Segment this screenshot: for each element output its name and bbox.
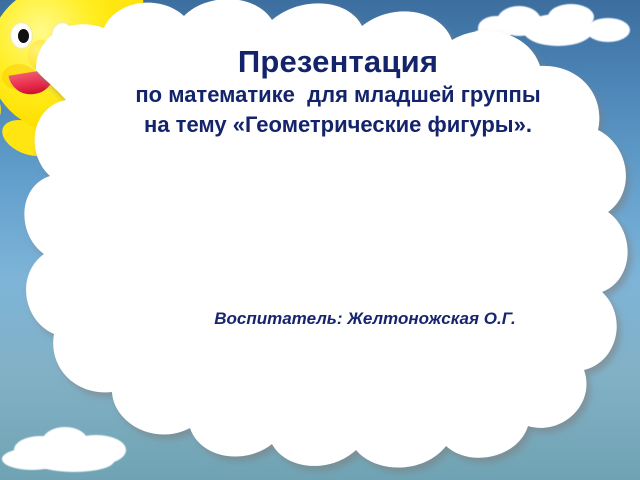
subtitle-line-2: на тему «Геометрические фигуры». (128, 112, 548, 138)
author-name: Воспитатель: Желтоножская О.Г. (150, 309, 580, 329)
author-block: Воспитатель: Желтоножская О.Г. (150, 309, 580, 329)
subtitle-line-1: по математике для младшей группы (128, 82, 548, 108)
slide-title-block: Презентация по математике для младшей гр… (128, 44, 548, 138)
page-title: Презентация (128, 44, 548, 80)
presentation-slide: Презентация по математике для младшей гр… (0, 0, 640, 480)
